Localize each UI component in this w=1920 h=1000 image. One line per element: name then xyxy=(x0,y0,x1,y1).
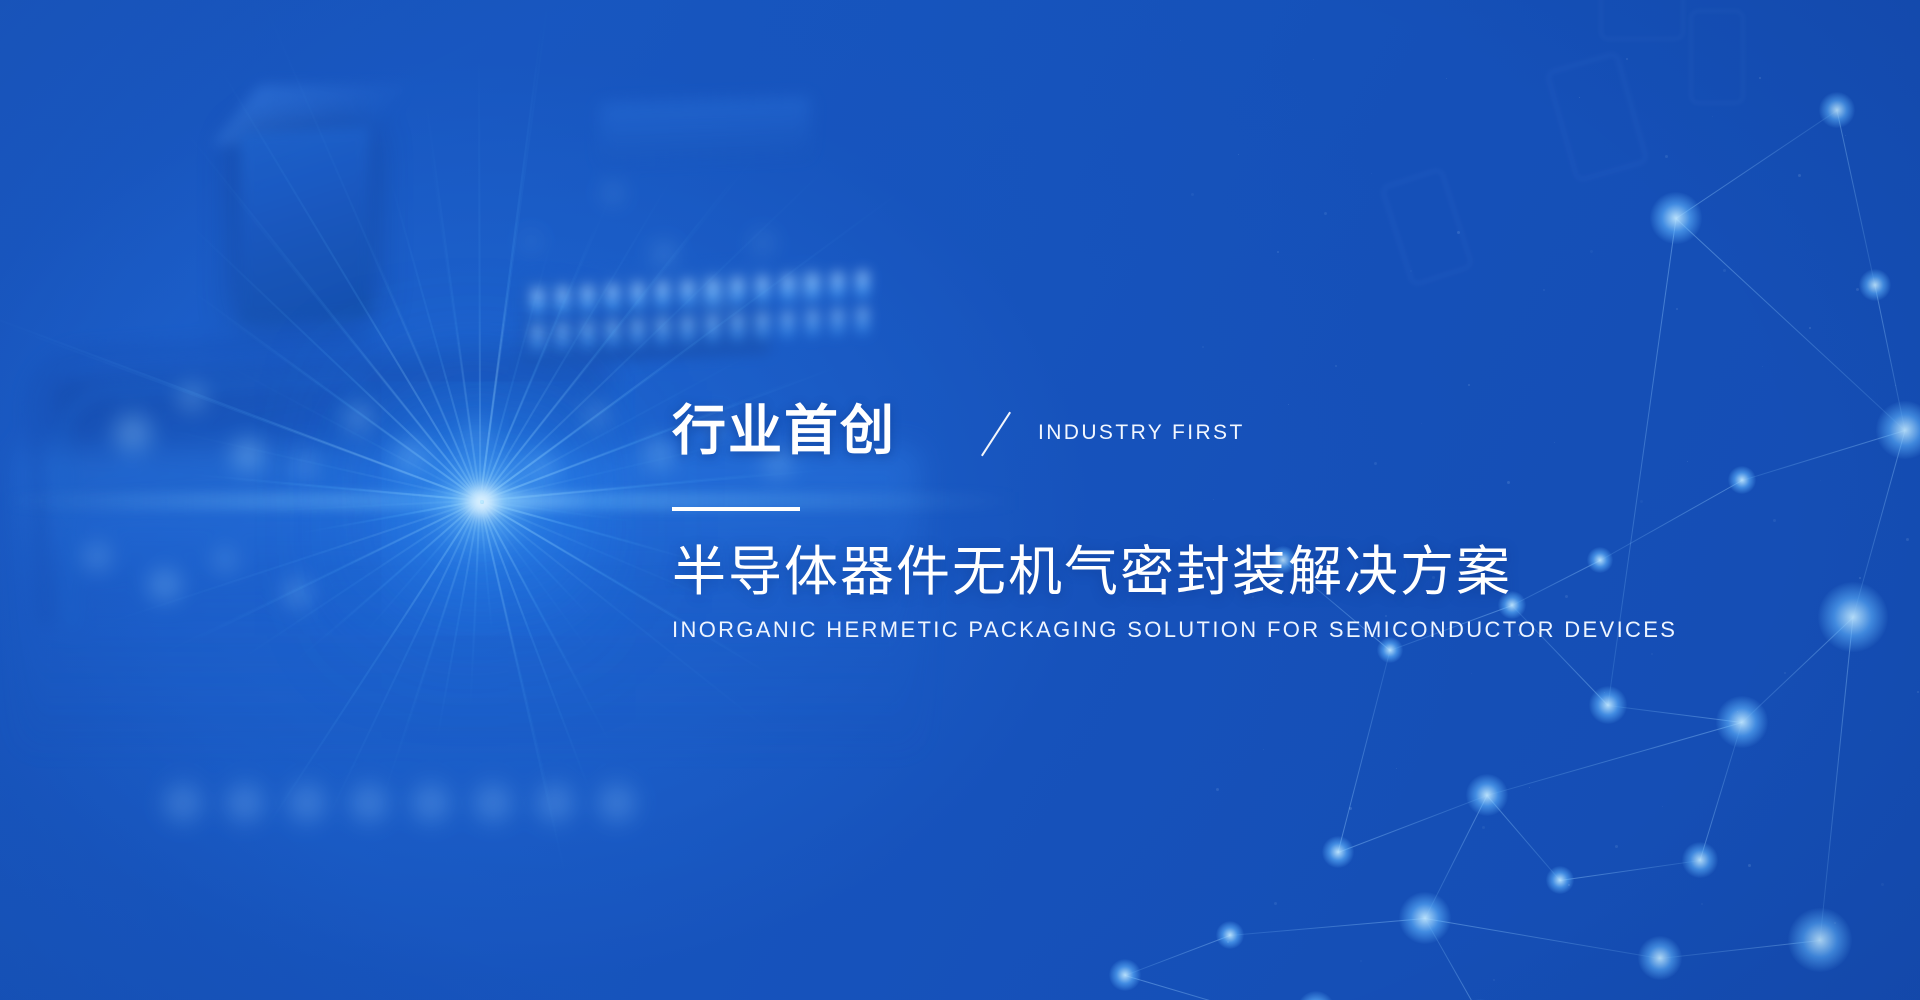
dust-particle xyxy=(1216,788,1219,791)
bokeh-dot-row xyxy=(408,780,454,826)
network-node xyxy=(1216,921,1245,950)
bokeh-dot xyxy=(210,545,240,575)
hero-banner: 行业首创 INDUSTRY FIRST 半导体器件无机气密封装解决方案 INOR… xyxy=(0,0,1920,1000)
ic-pin xyxy=(607,320,618,347)
bokeh-dot xyxy=(145,565,185,605)
ic-pin xyxy=(757,312,768,339)
ghost-rect-1 xyxy=(1600,0,1684,40)
dust-particle xyxy=(1845,135,1846,136)
dust-particle xyxy=(1604,692,1605,693)
dust-particle xyxy=(1723,269,1726,272)
bokeh-dot xyxy=(600,180,626,206)
bokeh-dot xyxy=(175,380,209,414)
network-edge xyxy=(1125,975,1345,1000)
pcb-cable-arc-inner xyxy=(54,372,378,630)
ic-pin xyxy=(682,280,693,307)
headline-cn: 半导体器件无机气密封装解决方案 xyxy=(672,543,1792,601)
bokeh-dot xyxy=(650,240,678,268)
dust-particle xyxy=(1759,77,1761,79)
network-edge xyxy=(1660,940,1820,959)
network-edge xyxy=(1700,722,1743,860)
dust-particle xyxy=(1737,711,1738,712)
network-edge xyxy=(1837,110,1876,285)
network-edge xyxy=(1487,722,1742,796)
dust-particle xyxy=(1191,193,1194,196)
ic-pin xyxy=(782,311,793,338)
ic-pin xyxy=(707,315,718,342)
ic-pin xyxy=(557,287,568,314)
network-node xyxy=(1818,582,1888,652)
dust-particle xyxy=(1482,826,1485,829)
bokeh-dot xyxy=(700,280,732,312)
bokeh-dot-row xyxy=(284,780,330,826)
dust-particle xyxy=(1360,960,1362,962)
network-node xyxy=(1322,836,1354,868)
network-edge xyxy=(1125,935,1230,976)
network-node xyxy=(1589,686,1627,724)
bokeh-dot xyxy=(390,435,434,479)
ic-pin xyxy=(757,276,768,303)
network-node xyxy=(1716,696,1767,747)
network-edge xyxy=(1425,795,1488,918)
dust-particle xyxy=(1809,327,1811,329)
network-edge xyxy=(1230,918,1425,936)
network-node xyxy=(1788,908,1852,972)
ic-pin xyxy=(807,310,818,337)
network-node xyxy=(1466,774,1508,816)
dust-particle xyxy=(1180,40,1181,41)
ic-pin xyxy=(857,271,868,298)
network-edge xyxy=(1338,650,1391,852)
dust-particle xyxy=(1277,251,1279,253)
bokeh-dot xyxy=(280,575,316,611)
dust-particle xyxy=(1202,346,1204,348)
ic-pin xyxy=(857,307,868,334)
bokeh-dot-row xyxy=(346,780,392,826)
dust-particle xyxy=(1870,730,1871,731)
dust-particle xyxy=(1662,806,1663,807)
white-rule-divider xyxy=(672,507,800,511)
dust-particle xyxy=(1676,308,1678,310)
ic-pin xyxy=(632,283,643,310)
network-edge xyxy=(1425,918,1481,1000)
ic-pin xyxy=(532,288,543,315)
ic-pin xyxy=(582,322,593,349)
dust-particle xyxy=(1895,385,1896,386)
bokeh-dot xyxy=(520,230,542,252)
dust-particle xyxy=(1410,270,1412,272)
network-edge xyxy=(1338,795,1487,853)
bokeh-dot-row xyxy=(470,780,516,826)
network-edge xyxy=(1487,795,1561,881)
dust-particle xyxy=(1227,941,1229,943)
ic-pin xyxy=(657,282,668,309)
dust-particle xyxy=(1529,787,1530,788)
ghost-rect-3 xyxy=(1546,52,1649,182)
network-edge xyxy=(1676,110,1838,219)
network-node xyxy=(1399,892,1450,943)
network-node xyxy=(1682,842,1717,877)
network-edge xyxy=(1560,860,1700,881)
dust-particle xyxy=(1748,864,1751,867)
bokeh-dot xyxy=(228,435,268,475)
eyebrow-row: 行业首创 INDUSTRY FIRST xyxy=(672,395,1792,467)
dust-particle xyxy=(1820,480,1821,481)
dust-particle xyxy=(1238,154,1239,155)
network-node xyxy=(1859,269,1891,301)
main-chip-block xyxy=(240,127,370,324)
dust-particle xyxy=(1856,288,1859,291)
network-edge xyxy=(1820,617,1854,940)
network-edge xyxy=(1608,705,1742,723)
network-node xyxy=(1638,936,1683,981)
dust-particle xyxy=(1881,883,1884,886)
bokeh-dot xyxy=(80,540,114,574)
bokeh-dot-row xyxy=(222,780,268,826)
ic-pin xyxy=(557,323,568,350)
bokeh-dot xyxy=(460,420,494,454)
network-edge xyxy=(1853,430,1906,617)
dust-particle xyxy=(1712,116,1713,117)
kicker-title-cn: 行业首创 xyxy=(672,404,896,458)
bokeh-dot-row xyxy=(160,780,206,826)
secondary-chip-block xyxy=(600,96,810,163)
dust-particle xyxy=(1762,366,1763,367)
ic-pin xyxy=(682,316,693,343)
kicker-title-en: INDUSTRY FIRST xyxy=(1038,417,1245,445)
dust-particle xyxy=(1471,673,1472,674)
bokeh-dot xyxy=(290,450,320,480)
bokeh-dot-row xyxy=(594,780,640,826)
ic-pin xyxy=(732,278,743,305)
dust-particle xyxy=(1579,97,1580,98)
network-node xyxy=(1546,866,1575,895)
dust-particle xyxy=(1906,538,1909,541)
bokeh-dot xyxy=(580,400,612,432)
ic-pin xyxy=(632,319,643,346)
dust-particle xyxy=(1324,212,1327,215)
ic-pin xyxy=(582,286,593,313)
dust-particle xyxy=(1313,59,1314,60)
network-node xyxy=(1650,192,1701,243)
dust-particle xyxy=(1651,653,1653,655)
dust-particle xyxy=(1590,250,1593,253)
dust-particle xyxy=(1468,384,1470,386)
ic-pin xyxy=(657,318,668,345)
ic-pin xyxy=(832,273,843,300)
network-edge xyxy=(1425,918,1660,959)
dust-particle xyxy=(1701,903,1703,905)
banner-content: 行业首创 INDUSTRY FIRST 半导体器件无机气密封装解决方案 INOR… xyxy=(672,395,1792,643)
network-node xyxy=(1297,991,1335,1000)
network-node xyxy=(1109,959,1141,991)
dust-particle xyxy=(1274,902,1277,905)
dust-particle xyxy=(1917,691,1919,693)
dust-particle xyxy=(1626,58,1628,60)
dust-particle xyxy=(1859,577,1861,579)
dust-particle xyxy=(1349,807,1352,810)
dust-particle xyxy=(1457,231,1460,234)
dust-particle xyxy=(1568,884,1570,886)
ghost-rect-2 xyxy=(1690,10,1744,104)
dust-particle xyxy=(1665,155,1668,158)
dust-particle xyxy=(1335,365,1337,367)
bokeh-dot xyxy=(750,230,776,256)
ic-pin xyxy=(607,284,618,311)
bokeh-dot xyxy=(790,270,820,300)
dust-particle xyxy=(1446,78,1447,79)
network-node xyxy=(1876,401,1920,459)
network-node xyxy=(1819,92,1854,127)
dust-particle xyxy=(1784,672,1786,674)
dust-particle xyxy=(1493,979,1495,981)
bokeh-dot xyxy=(520,450,560,490)
dust-particle xyxy=(1371,173,1372,174)
bokeh-dot-row xyxy=(532,780,578,826)
network-edge xyxy=(1875,285,1906,430)
ic-pin xyxy=(832,309,843,336)
bokeh-dot xyxy=(340,400,376,436)
dust-particle xyxy=(1798,174,1801,177)
dust-particle xyxy=(1263,749,1264,750)
dust-particle xyxy=(1396,768,1397,769)
dust-particle xyxy=(1834,922,1836,924)
ic-pin xyxy=(732,314,743,341)
slash-divider-icon xyxy=(978,408,1012,454)
bokeh-dot xyxy=(110,410,156,456)
dust-particle xyxy=(1615,845,1618,848)
ghost-rect-4 xyxy=(1380,168,1473,287)
dust-particle xyxy=(1543,289,1545,291)
ic-pin xyxy=(532,324,543,351)
headline-en: INORGANIC HERMETIC PACKAGING SOLUTION FO… xyxy=(672,617,1792,643)
